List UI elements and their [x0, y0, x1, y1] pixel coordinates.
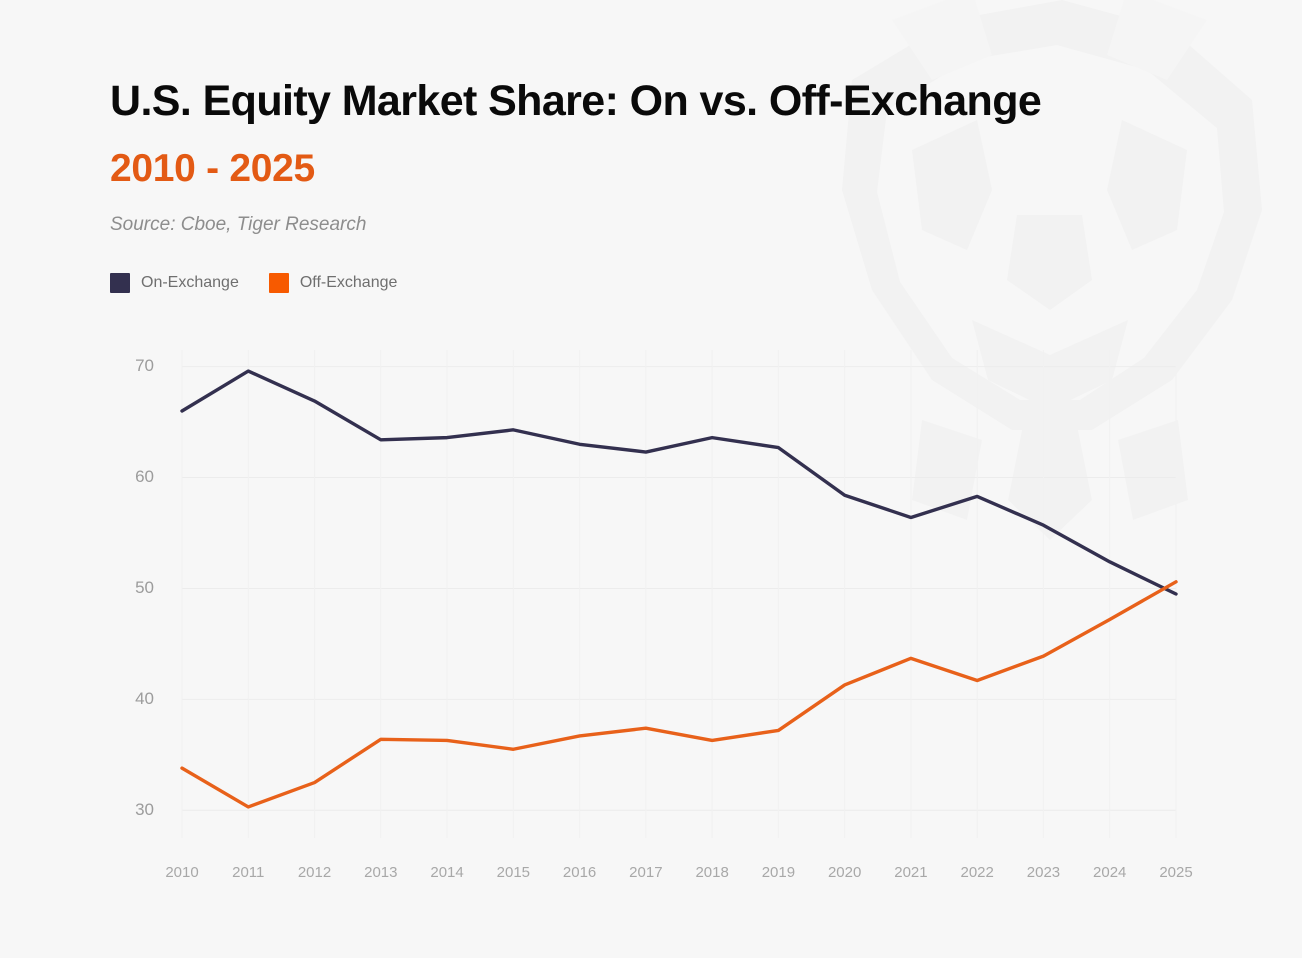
x-axis-tick-label: 2010 — [165, 864, 198, 881]
y-axis-tick-labels: 3040506070 — [135, 356, 154, 819]
x-axis-tick-label: 2021 — [894, 864, 927, 881]
x-axis-tick-label: 2012 — [298, 864, 331, 881]
x-axis-tick-label: 2024 — [1093, 864, 1126, 881]
x-axis-tick-label: 2014 — [430, 864, 463, 881]
series-line-off-exchange — [182, 582, 1176, 807]
x-axis-tick-label: 2017 — [629, 864, 662, 881]
y-axis-tick-label: 70 — [135, 356, 154, 375]
x-axis-tick-label: 2015 — [497, 864, 530, 881]
series-line-on-exchange — [182, 371, 1176, 594]
x-axis-tick-label: 2022 — [961, 864, 994, 881]
vertical-gridlines — [182, 350, 1176, 838]
y-axis-tick-label: 60 — [135, 467, 154, 486]
y-axis-tick-label: 30 — [135, 800, 154, 819]
x-axis-tick-label: 2025 — [1159, 864, 1192, 881]
x-axis-tick-label: 2016 — [563, 864, 596, 881]
x-axis-tick-label: 2023 — [1027, 864, 1060, 881]
chart-plot-area: 3040506070 20102011201220132014201520162… — [0, 0, 1302, 958]
y-axis-tick-label: 40 — [135, 689, 154, 708]
x-axis-tick-labels: 2010201120122013201420152016201720182019… — [165, 864, 1192, 881]
y-axis-tick-label: 50 — [135, 578, 154, 597]
x-axis-tick-label: 2018 — [695, 864, 728, 881]
x-axis-tick-label: 2020 — [828, 864, 861, 881]
chart-series-lines — [182, 371, 1176, 807]
horizontal-gridlines — [182, 367, 1176, 811]
x-axis-tick-label: 2011 — [232, 864, 264, 881]
x-axis-tick-label: 2019 — [762, 864, 795, 881]
x-axis-tick-label: 2013 — [364, 864, 397, 881]
